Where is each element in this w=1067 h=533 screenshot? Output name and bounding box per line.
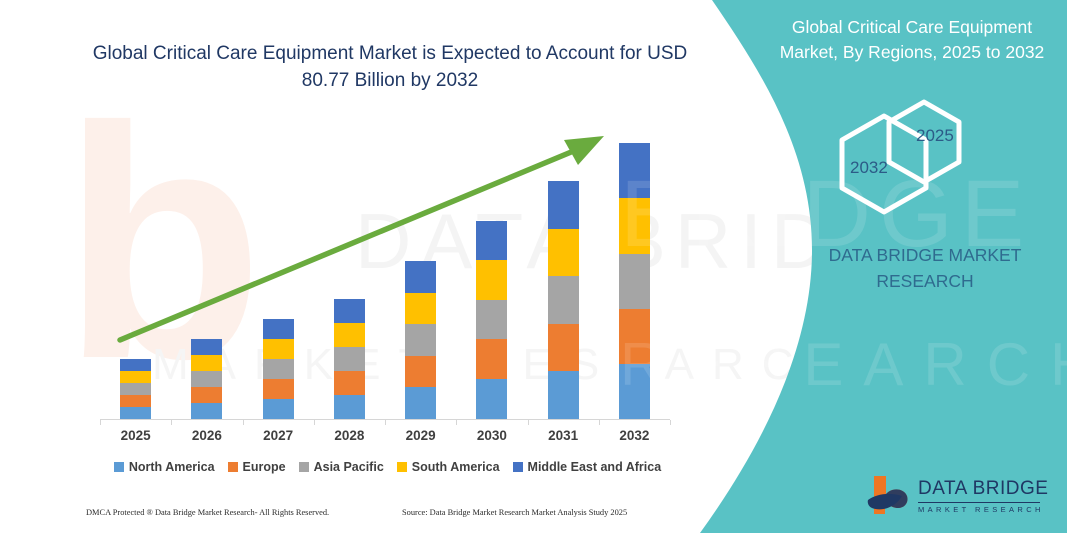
bar-segment <box>263 339 294 359</box>
bar-segment <box>120 371 151 383</box>
bar-segment <box>263 399 294 419</box>
bar-segment <box>191 355 222 371</box>
x-axis-labels: 20252026202720282029203020312032 <box>100 428 670 448</box>
bar-segment <box>548 324 579 371</box>
bar-segment <box>476 339 507 379</box>
logo-text-block: DATA BRIDGE MARKET RESEARCH <box>918 478 1048 514</box>
legend-item: Middle East and Africa <box>513 460 662 474</box>
data-bridge-logo: DATA BRIDGE MARKET RESEARCH <box>866 474 1042 522</box>
bar-segment <box>548 276 579 324</box>
legend-label: North America <box>129 460 215 474</box>
bar-segment <box>263 319 294 339</box>
bar-2032 <box>619 143 650 419</box>
bar-segment <box>405 293 436 324</box>
bar-segment <box>405 261 436 293</box>
logo-mark-icon <box>866 474 914 518</box>
bar-segment <box>120 407 151 419</box>
bar-segment <box>191 387 222 403</box>
x-axis-tick <box>171 420 172 425</box>
bar-segment <box>191 403 222 419</box>
bar-segment <box>120 395 151 407</box>
bar-segment <box>548 229 579 276</box>
bar-segment <box>334 323 365 347</box>
x-axis-tick <box>385 420 386 425</box>
bar-segment <box>334 299 365 323</box>
bar-segment <box>548 371 579 419</box>
footer: DMCA Protected ® Data Bridge Market Rese… <box>0 508 710 528</box>
bar-segment <box>263 379 294 399</box>
bar-segment <box>191 371 222 387</box>
legend-item: North America <box>114 460 215 474</box>
x-axis-tick <box>456 420 457 425</box>
legend-label: Europe <box>243 460 286 474</box>
bar-segment <box>619 309 650 364</box>
bar-2031 <box>548 181 579 419</box>
x-axis-label-2031: 2031 <box>528 428 598 443</box>
bar-segment <box>405 324 436 356</box>
bar-segment <box>334 395 365 419</box>
bar-segment <box>476 300 507 339</box>
bar-segment <box>334 347 365 371</box>
x-axis-label-2025: 2025 <box>101 428 171 443</box>
x-axis-label-2027: 2027 <box>243 428 313 443</box>
hexagon-badges: 2025 2032 <box>820 96 1030 221</box>
bar-segment <box>120 359 151 371</box>
hexagon-2025-label: 2025 <box>916 126 954 146</box>
x-axis-label-2032: 2032 <box>599 428 669 443</box>
legend-swatch-icon <box>397 462 407 472</box>
bar-2028 <box>334 299 365 419</box>
bar-2027 <box>263 319 294 419</box>
bar-segment <box>476 221 507 260</box>
legend-swatch-icon <box>114 462 124 472</box>
hexagon-2032-label: 2032 <box>850 158 888 178</box>
bar-segment <box>120 383 151 395</box>
x-axis-tick <box>599 420 600 425</box>
bar-segment <box>263 359 294 379</box>
bar-segment <box>476 260 507 300</box>
legend-item: South America <box>397 460 500 474</box>
footer-copyright: DMCA Protected ® Data Bridge Market Rese… <box>86 508 329 517</box>
panel-watermark-research: RESEARCH <box>620 330 1067 399</box>
panel-title: Global Critical Care Equipment Market, B… <box>766 15 1058 65</box>
bar-segment <box>405 387 436 419</box>
infographic-root: b DATA BRIDGE MARKET RESEARCH Global Cri… <box>0 0 1067 533</box>
x-axis-label-2029: 2029 <box>386 428 456 443</box>
bar-segment <box>619 364 650 419</box>
legend-label: South America <box>412 460 500 474</box>
x-axis-tick <box>314 420 315 425</box>
x-axis-tick <box>243 420 244 425</box>
bar-2025 <box>120 359 151 419</box>
logo-subtitle: MARKET RESEARCH <box>918 505 1048 514</box>
x-axis-label-2028: 2028 <box>314 428 384 443</box>
bar-segment <box>619 254 650 309</box>
bar-segment <box>619 143 650 198</box>
bar-2026 <box>191 339 222 419</box>
panel-brand-name: DATA BRIDGE MARKET RESEARCH <box>790 242 1060 294</box>
bar-segment <box>334 371 365 395</box>
bar-2029 <box>405 261 436 419</box>
x-axis-label-2026: 2026 <box>172 428 242 443</box>
bar-segment <box>191 339 222 355</box>
x-axis-tick <box>528 420 529 425</box>
x-axis-tick <box>100 420 101 425</box>
bar-segment <box>476 379 507 419</box>
legend-swatch-icon <box>513 462 523 472</box>
chart-legend: North AmericaEuropeAsia PacificSouth Ame… <box>100 460 675 474</box>
x-axis-tick <box>670 420 671 425</box>
legend-swatch-icon <box>299 462 309 472</box>
bar-segment <box>548 181 579 229</box>
footer-source: Source: Data Bridge Market Research Mark… <box>402 508 627 517</box>
bar-2030 <box>476 221 507 419</box>
bar-chart-plot <box>100 120 670 420</box>
logo-divider <box>918 502 1040 503</box>
x-axis-label-2030: 2030 <box>457 428 527 443</box>
legend-swatch-icon <box>228 462 238 472</box>
logo-name: DATA BRIDGE <box>918 478 1048 500</box>
legend-item: Asia Pacific <box>299 460 384 474</box>
legend-label: Middle East and Africa <box>528 460 662 474</box>
bar-segment <box>619 198 650 254</box>
bar-segment <box>405 356 436 387</box>
legend-label: Asia Pacific <box>314 460 384 474</box>
chart-title: Global Critical Care Equipment Market is… <box>70 40 710 94</box>
legend-item: Europe <box>228 460 286 474</box>
